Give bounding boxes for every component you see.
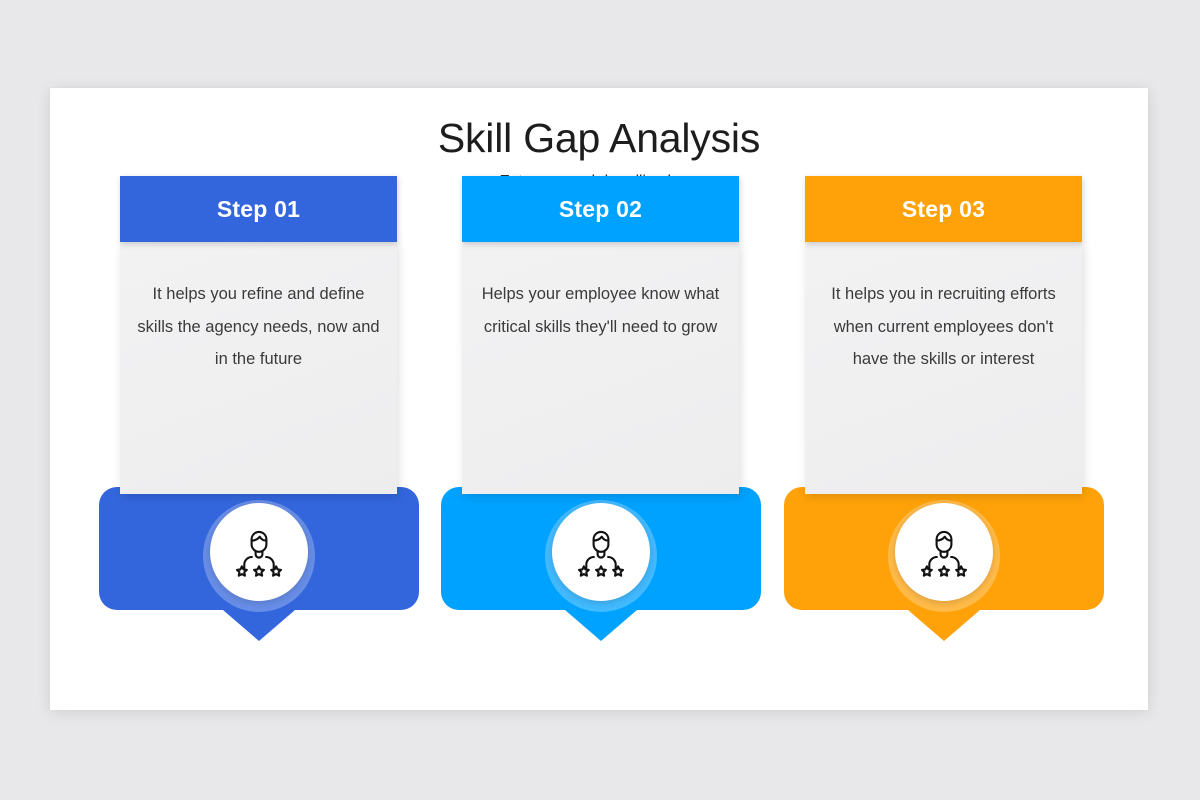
step-column-1: It helps you refine and define skills th… [99, 88, 444, 710]
step-column-2: Helps your employee know what critical s… [441, 88, 786, 710]
step-header-label-3: Step 03 [902, 196, 985, 223]
step-body-text-3: It helps you in recruiting efforts when … [821, 278, 1066, 376]
step-header-bar-1[interactable]: Step 01 [120, 176, 397, 242]
badge-disc-3 [895, 503, 993, 601]
step-body-panel-2: Helps your employee know what critical s… [462, 242, 739, 494]
person-stars-icon [572, 523, 630, 581]
person-stars-icon [915, 523, 973, 581]
step-header-label-1: Step 01 [217, 196, 300, 223]
step-header-bar-2[interactable]: Step 02 [462, 176, 739, 242]
step-header-bar-3[interactable]: Step 03 [805, 176, 1082, 242]
step-column-3: It helps you in recruiting efforts when … [784, 88, 1129, 710]
person-stars-icon [230, 523, 288, 581]
step-body-panel-3: It helps you in recruiting efforts when … [805, 242, 1082, 494]
slide-canvas: Skill Gap Analysis Enter your sub headli… [50, 88, 1148, 710]
step-badge-2[interactable] [545, 500, 657, 612]
step-body-text-1: It helps you refine and define skills th… [136, 278, 381, 376]
step-body-panel-1: It helps you refine and define skills th… [120, 242, 397, 494]
badge-disc-2 [552, 503, 650, 601]
step-badge-3[interactable] [888, 500, 1000, 612]
step-header-label-2: Step 02 [559, 196, 642, 223]
badge-disc-1 [210, 503, 308, 601]
step-body-text-2: Helps your employee know what critical s… [478, 278, 723, 343]
step-badge-1[interactable] [203, 500, 315, 612]
